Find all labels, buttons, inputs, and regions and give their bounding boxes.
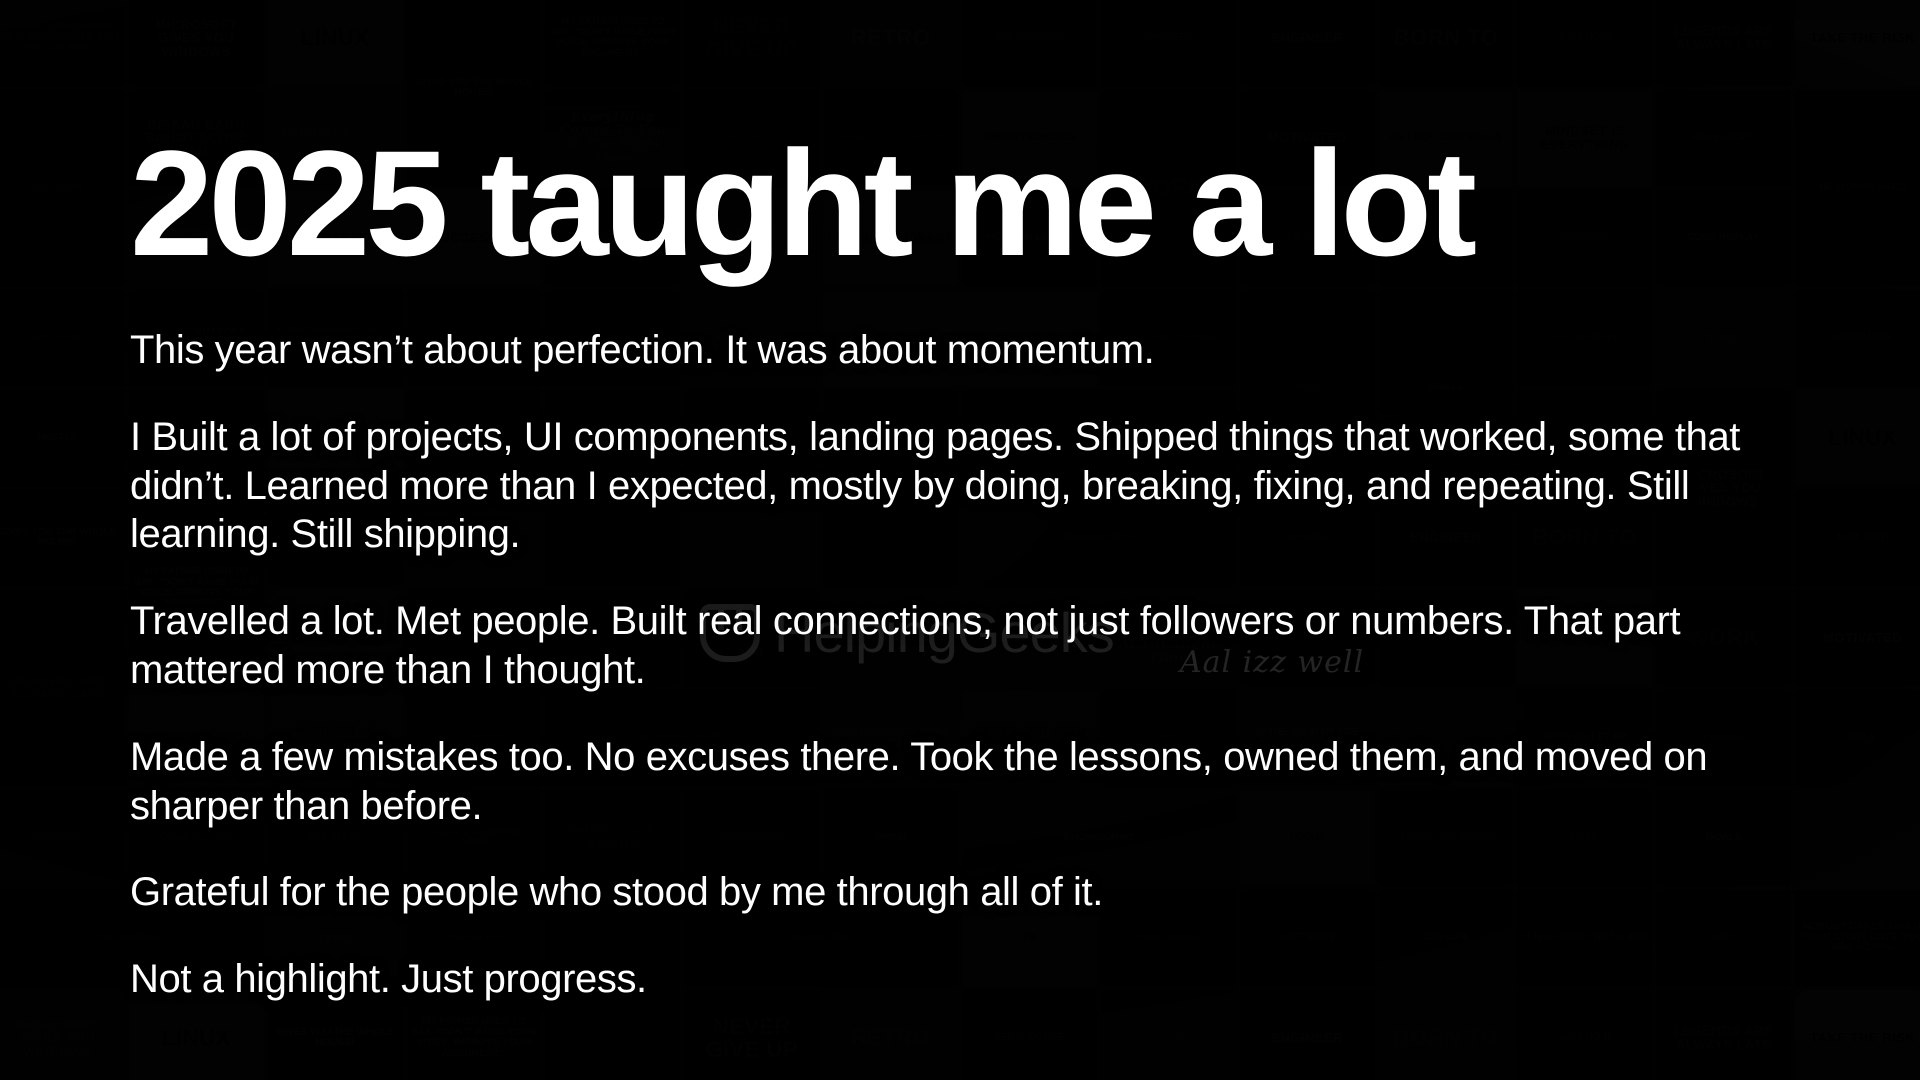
paragraph-building: I Built a lot of projects, UI components…: [130, 413, 1790, 559]
paragraph-travel: Travelled a lot. Met people. Built real …: [130, 597, 1790, 695]
presentation-slide: NOBODY CARES ABOUT YOUR STORY UNTIL YOU …: [0, 0, 1920, 1080]
paragraph-closing: Not a highlight. Just progress.: [130, 955, 1790, 1004]
paragraph-intro: This year wasn’t about perfection. It wa…: [130, 326, 1790, 375]
slide-title: 2025 taught me a lot: [130, 0, 1830, 278]
slide-content: 2025 taught me a lot This year wasn’t ab…: [130, 0, 1830, 1080]
paragraph-gratitude: Grateful for the people who stood by me …: [130, 868, 1790, 917]
paragraph-mistakes: Made a few mistakes too. No excuses ther…: [130, 733, 1790, 831]
slide-body-copy: This year wasn’t about perfection. It wa…: [130, 326, 1790, 1004]
